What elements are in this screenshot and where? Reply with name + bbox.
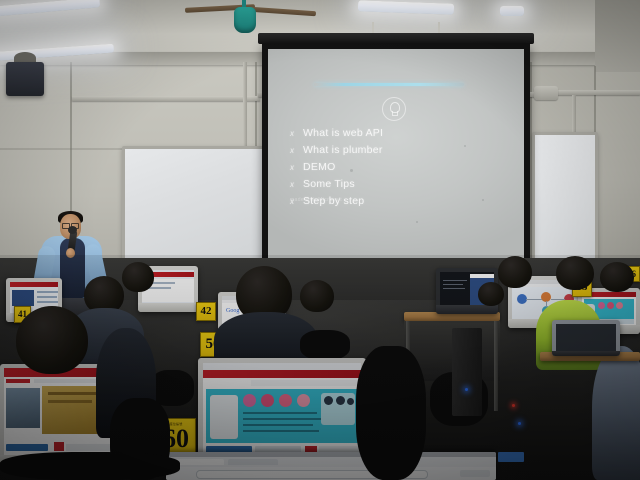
list-item: x What is web API — [290, 127, 505, 140]
site-icon — [243, 394, 256, 407]
text-line — [243, 430, 319, 432]
whiteboard-left — [122, 146, 268, 270]
student-head — [600, 262, 634, 292]
window-titlebar — [470, 274, 494, 278]
avatar — [336, 396, 345, 405]
screen-speck — [350, 169, 353, 172]
slide-item-label: Some Tips — [303, 178, 355, 191]
text-line — [243, 418, 323, 420]
text-line — [243, 412, 317, 414]
bullet-glyph: x — [290, 127, 297, 140]
list-item: x DEMO — [290, 161, 505, 174]
microphone-head — [68, 226, 77, 234]
site-icon-row — [598, 302, 623, 309]
diagram-edge — [526, 299, 542, 300]
desk-leg — [494, 321, 498, 411]
placard-number: 42 — [201, 306, 212, 317]
site-icon — [279, 394, 292, 407]
text-line — [443, 284, 463, 285]
bullet-glyph: x — [290, 178, 297, 191]
screen-speck — [482, 199, 484, 201]
text-line — [443, 288, 465, 289]
screen-speck — [416, 221, 418, 223]
student-head — [478, 282, 504, 306]
text-line — [37, 296, 57, 298]
text-line — [443, 280, 467, 281]
site-icon — [616, 302, 623, 309]
student-head — [300, 280, 334, 312]
slide-footnote: made with Microsoft — [290, 197, 342, 203]
ceiling-fan-motor — [234, 7, 256, 33]
bullet-glyph: x — [290, 161, 297, 174]
whiteboard-right — [532, 132, 598, 270]
conduit-box — [534, 86, 558, 100]
site-photo — [6, 388, 40, 428]
monitor-bezel — [138, 303, 198, 312]
placard-42: 42 — [196, 302, 216, 321]
monitor-bottom-strip[interactable] — [166, 452, 496, 480]
ceiling-conduit — [72, 96, 260, 101]
pc-tower — [452, 328, 482, 416]
projection-screen: x What is web API x What is plumber x DE… — [262, 43, 530, 265]
site-logo — [6, 379, 30, 383]
slide-item-label: DEMO — [303, 161, 336, 174]
site-icon — [261, 394, 274, 407]
power-led — [518, 422, 521, 425]
site-footer-text — [66, 444, 110, 451]
ceiling-light-tube — [500, 6, 524, 16]
text-line — [37, 301, 58, 303]
wall-speaker — [6, 62, 44, 96]
text-line — [48, 392, 100, 395]
classroom-scene: x What is web API x What is plumber x DE… — [0, 0, 640, 480]
site-banner — [10, 282, 58, 287]
screen-speck — [464, 145, 466, 147]
monitor-bezel — [436, 305, 498, 314]
text-line — [243, 424, 313, 426]
site-badge — [54, 442, 64, 451]
list-item: x What is plumber — [290, 144, 505, 157]
laptop-right[interactable] — [552, 320, 620, 356]
student-head — [556, 256, 594, 290]
taskbar-button[interactable] — [498, 452, 524, 462]
laptop-screen — [556, 324, 616, 351]
site-logo — [206, 380, 246, 386]
list-item: x Some Tips — [290, 178, 505, 191]
lightbulb-icon — [382, 97, 406, 121]
student-silhouette — [356, 346, 426, 480]
student-head — [16, 306, 88, 374]
avatar — [347, 398, 354, 405]
browser-toolbar — [203, 363, 361, 370]
status-led — [512, 404, 515, 407]
text-line — [37, 291, 58, 293]
student-head — [498, 256, 532, 288]
slide-item-label: What is web API — [303, 127, 383, 140]
avatar — [324, 396, 333, 405]
monitor-screen — [203, 363, 361, 458]
site-product-thermometer — [210, 395, 238, 439]
power-led — [465, 388, 468, 391]
projection-screen-surface: x What is web API x What is plumber x DE… — [268, 49, 524, 259]
presenter-hand — [66, 248, 75, 258]
site-nav[interactable] — [251, 380, 358, 386]
browser-tab[interactable] — [228, 459, 278, 465]
text-line — [48, 400, 92, 403]
laptop-keyboard — [552, 351, 620, 356]
ceiling-soffit — [595, 0, 640, 72]
equipment-blob — [300, 330, 350, 360]
site-icon — [598, 302, 605, 309]
site-icon — [607, 302, 614, 309]
bullet-glyph: x — [290, 144, 297, 157]
site-banner — [203, 370, 361, 378]
site-icon-row — [243, 394, 310, 407]
site-button[interactable] — [6, 444, 48, 451]
browser-menu[interactable] — [460, 470, 490, 477]
student-silhouette — [0, 452, 180, 480]
slide-item-label: What is plumber — [303, 144, 383, 157]
site-icon — [297, 394, 310, 407]
site-panel — [12, 290, 34, 306]
slide-accent-rule — [314, 83, 464, 86]
student-shoulders — [592, 346, 640, 480]
student-head — [122, 262, 154, 292]
